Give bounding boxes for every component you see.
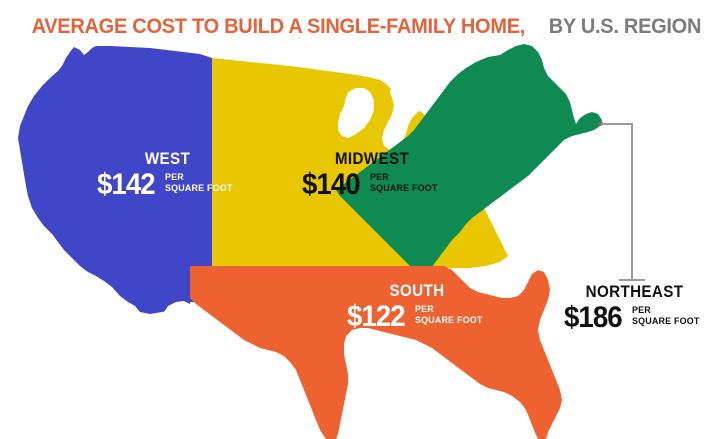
map-region-west[interactable] — [18, 46, 212, 314]
leader-line-horizontal — [601, 123, 633, 125]
page-title-main: AVERAGE COST TO BUILD A SINGLE-FAMILY HO… — [31, 14, 524, 39]
leader-line-vertical — [631, 123, 633, 281]
us-region-map — [0, 44, 720, 439]
leader-line-foot — [619, 279, 645, 281]
map-region-south[interactable] — [190, 266, 562, 439]
page-title: AVERAGE COST TO BUILD A SINGLE-FAMILY HO… — [0, 14, 720, 39]
page-title-sub: BY U.S. REGION — [549, 14, 701, 39]
infographic-page: AVERAGE COST TO BUILD A SINGLE-FAMILY HO… — [0, 0, 720, 439]
